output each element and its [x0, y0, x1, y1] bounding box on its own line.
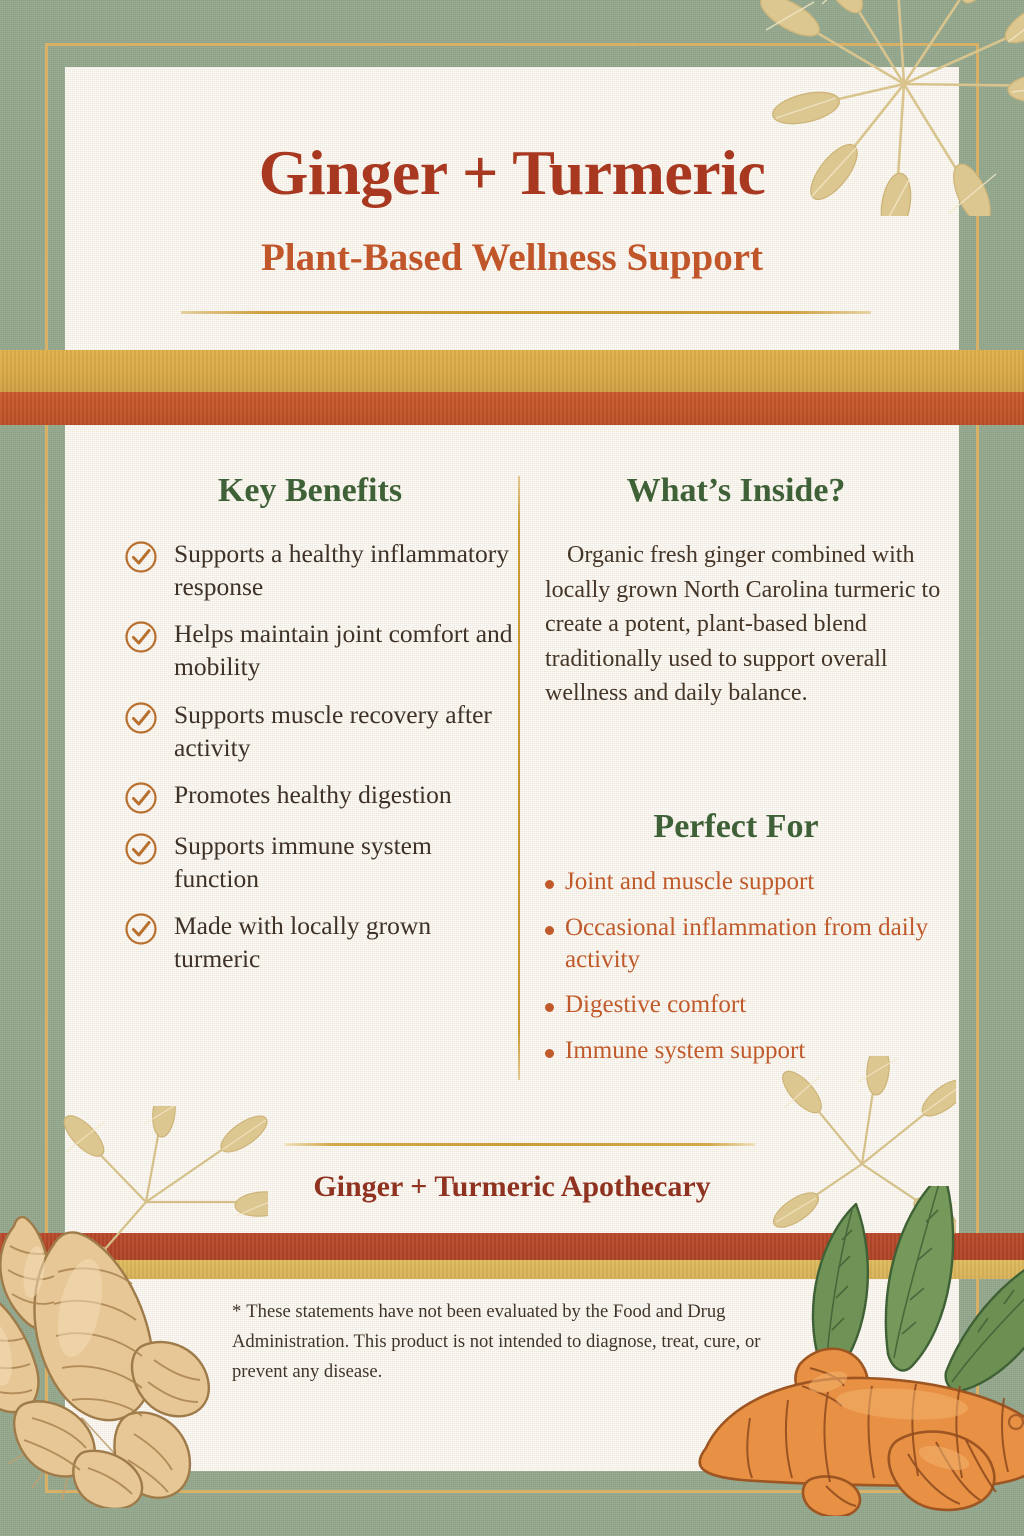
list-item: Immune system support [545, 1035, 945, 1067]
list-item-label: Supports immune system function [174, 828, 514, 895]
list-item: Promotes healthy digestion [124, 777, 514, 815]
check-circle-icon [124, 620, 158, 654]
band-gold-stripe [0, 350, 1024, 392]
list-item-label: Helps maintain joint comfort and mobilit… [174, 616, 514, 683]
list-item: Supports immune system function [124, 828, 514, 895]
list-item: Supports a healthy inflammatory response [124, 536, 514, 603]
check-circle-icon [124, 701, 158, 735]
list-item: Digestive comfort [545, 989, 945, 1021]
check-circle-icon [124, 781, 158, 815]
bullet-dot-icon [545, 1049, 554, 1058]
column-divider [518, 476, 520, 1080]
list-item-label: Joint and muscle support [565, 866, 814, 898]
band-rust-stripe [0, 392, 1024, 425]
whats-inside-body: Organic fresh ginger combined with local… [545, 538, 945, 711]
list-item-label: Occasional inflammation from daily activ… [565, 912, 945, 976]
section-heading-key-benefits: Key Benefits [110, 472, 510, 509]
list-item: Helps maintain joint comfort and mobilit… [124, 616, 514, 683]
disclaimer-text: These statements have not been evaluated… [232, 1301, 760, 1382]
perfect-for-list: Joint and muscle support Occasional infl… [545, 866, 945, 1081]
footer-divider [285, 1143, 755, 1146]
disclaimer-asterisk: * [232, 1301, 241, 1322]
page-title: Ginger + Turmeric [65, 139, 959, 206]
top-color-band [0, 350, 1024, 425]
section-heading-perfect-for: Perfect For [530, 808, 942, 845]
page-subtitle: Plant-Based Wellness Support [65, 237, 959, 280]
check-circle-icon [124, 540, 158, 574]
list-item-label: Immune system support [565, 1035, 805, 1067]
key-benefits-list: Supports a healthy inflammatory response… [124, 536, 514, 988]
header-divider [181, 311, 871, 314]
legal-disclaimer: *These statements have not been evaluate… [232, 1297, 802, 1387]
bottom-color-band [0, 1233, 1024, 1279]
list-item-label: Supports muscle recovery after activity [174, 697, 514, 764]
bullet-dot-icon [545, 880, 554, 889]
list-item-label: Promotes healthy digestion [174, 777, 452, 811]
list-item-label: Made with locally grown turmeric [174, 908, 514, 975]
check-circle-icon [124, 912, 158, 946]
bullet-dot-icon [545, 926, 554, 935]
list-item: Made with locally grown turmeric [124, 908, 514, 975]
poster-root: Ginger + Turmeric Plant-Based Wellness S… [0, 0, 1024, 1536]
list-item: Joint and muscle support [545, 866, 945, 898]
list-item: Supports muscle recovery after activity [124, 697, 514, 764]
list-item-label: Supports a healthy inflammatory response [174, 536, 514, 603]
section-heading-whats-inside: What’s Inside? [530, 472, 942, 509]
brand-name: Ginger + Turmeric Apothecary [65, 1170, 959, 1204]
list-item-label: Digestive comfort [565, 989, 746, 1021]
check-circle-icon [124, 832, 158, 866]
list-item: Occasional inflammation from daily activ… [545, 912, 945, 976]
band-rust-stripe [0, 1233, 1024, 1260]
band-gold-stripe [0, 1260, 1024, 1279]
bullet-dot-icon [545, 1003, 554, 1012]
